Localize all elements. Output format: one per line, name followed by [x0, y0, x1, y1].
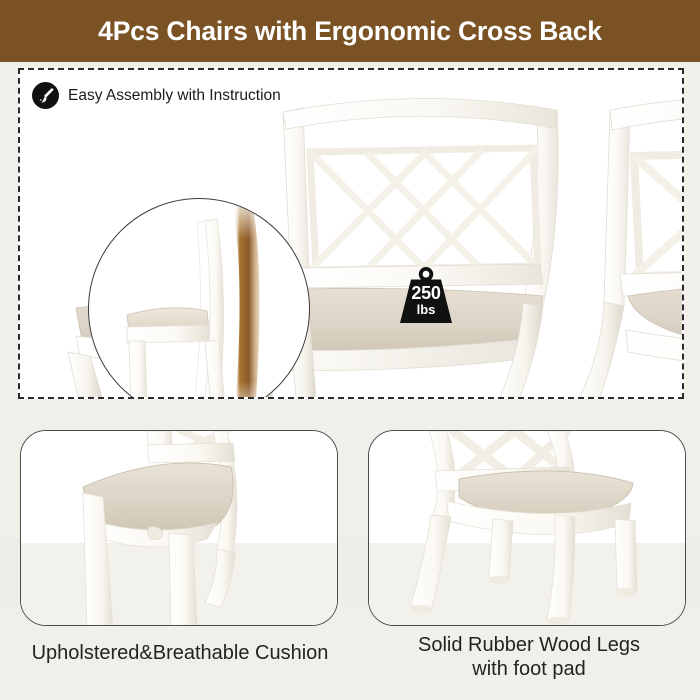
upholstered-cushion-card	[20, 430, 338, 626]
weight-capacity-badge: 250 lbs	[392, 266, 460, 324]
caption-line-1: Solid Rubber Wood Legs	[366, 634, 692, 658]
page-title: 4Pcs Chairs with Ergonomic Cross Back	[98, 16, 602, 47]
easy-assembly-badge: Easy Assembly with Instruction	[32, 82, 281, 109]
header-band: 4Pcs Chairs with Ergonomic Cross Back	[0, 0, 700, 62]
easy-assembly-label: Easy Assembly with Instruction	[68, 87, 281, 105]
caption-upholstered-cushion: Upholstered&Breathable Cushion	[8, 642, 352, 666]
rubber-wood-legs-card	[368, 430, 686, 626]
caption-line-2: with foot pad	[366, 658, 692, 682]
top-feature-panel: Easy Assembly with Instruction 250 lbs	[18, 68, 684, 399]
caption-rubber-wood-legs: Solid Rubber Wood Legs with foot pad	[366, 634, 692, 681]
wrench-icon	[32, 82, 59, 109]
